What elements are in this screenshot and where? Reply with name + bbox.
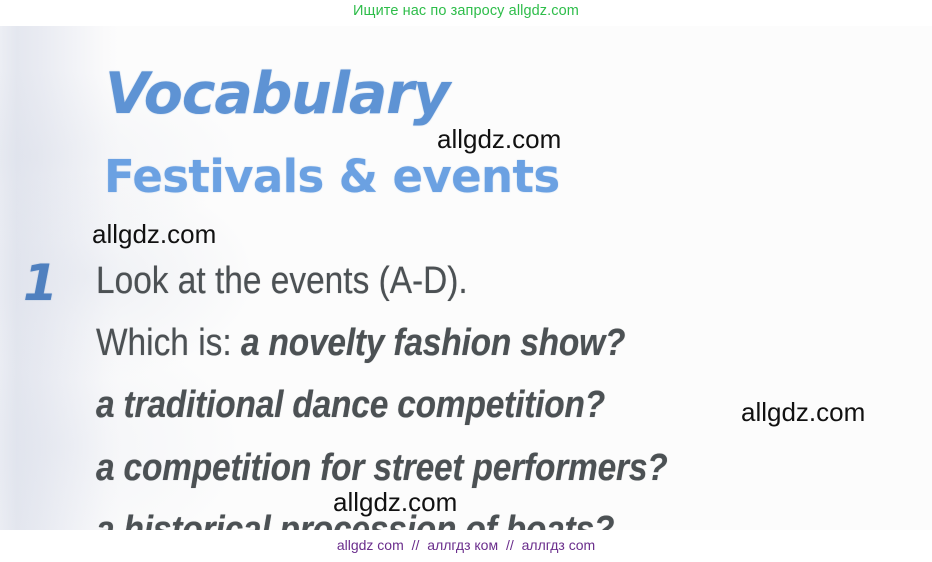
watermark-upper-left: allgdz.com (92, 221, 216, 247)
section-subheading-festivals-events: Festivals & events (104, 154, 560, 199)
exercise-number: 1 (23, 258, 58, 308)
footer-part-3: аллгдз com (522, 537, 596, 553)
footer-part-2: аллгдз ком (427, 537, 498, 553)
section-heading-vocabulary: Vocabulary (105, 66, 449, 123)
scanned-textbook-page: Vocabulary Festivals & events 1 Look at … (0, 26, 932, 530)
exercise-line-2: Which is: a novelty fashion show? (96, 324, 625, 362)
page-root: Ищите нас по запросу allgdz.com Vocabula… (0, 0, 932, 562)
watermark-lower-center: allgdz.com (333, 489, 457, 515)
exercise-line-2-italic: a novelty fashion show? (241, 322, 625, 364)
footer-separator-1: // (408, 537, 424, 553)
watermark-top: allgdz.com (437, 126, 561, 152)
footer-part-1: allgdz com (337, 537, 404, 553)
exercise-line-4: a competition for street performers? (96, 449, 668, 487)
exercise-line-1: Look at the events (A-D). (96, 262, 468, 300)
exercise-line-2-prefix: Which is: (96, 322, 241, 364)
search-promo-banner: Ищите нас по запросу allgdz.com (0, 3, 932, 19)
footer-keyword-links: allgdz com // аллгдз ком // аллгдз com (0, 537, 932, 553)
exercise-line-3: a traditional dance competition? (96, 386, 605, 424)
watermark-right: allgdz.com (741, 399, 865, 425)
footer-separator-2: // (502, 537, 518, 553)
